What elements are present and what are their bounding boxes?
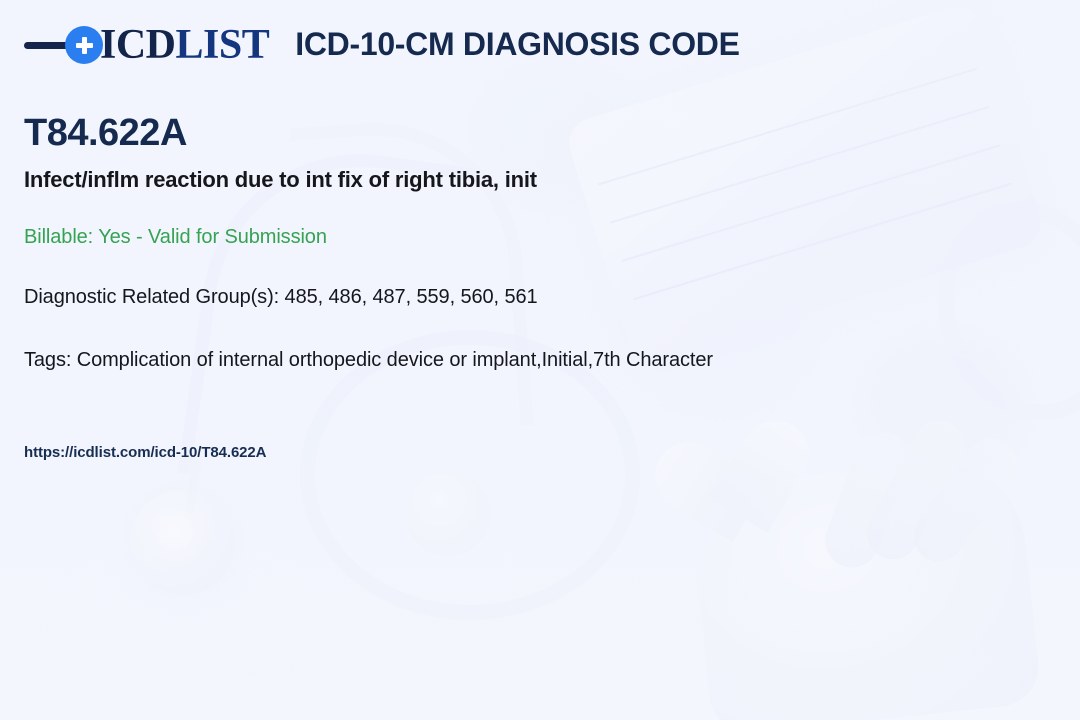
- stethoscope-ring-icon: [300, 330, 640, 620]
- tags-list: Tags: Complication of internal orthopedi…: [24, 348, 713, 372]
- plus-circle-icon: [65, 26, 103, 64]
- hand-finger-icon: [904, 429, 1027, 572]
- icdlist-logo[interactable]: ICDLIST: [24, 24, 269, 66]
- drg-list: Diagnostic Related Group(s): 485, 486, 4…: [24, 285, 538, 309]
- diagnosis-description: Infect/inflm reaction due to int fix of …: [24, 167, 537, 193]
- logo-text-list: LIST: [176, 22, 270, 68]
- heart-shape-icon: [676, 416, 834, 574]
- source-url[interactable]: https://icdlist.com/icd-10/T84.622A: [24, 444, 266, 462]
- stethoscope-bell-icon: [130, 490, 235, 595]
- background-blur-blob: [620, 250, 820, 420]
- hand-palm-icon: [688, 453, 1042, 720]
- background-blur-blob: [60, 560, 320, 700]
- icd-code-card: ICDLIST ICD-10-CM DIAGNOSIS CODE T84.622…: [0, 0, 1080, 720]
- stethoscope-tubing-icon: [289, 113, 533, 441]
- surgical-mask-earloop-icon: [910, 177, 1080, 444]
- stethoscope-stem-icon: [183, 460, 201, 521]
- stethoscope-chestpiece-icon: [405, 470, 491, 556]
- header: ICDLIST ICD-10-CM DIAGNOSIS CODE: [24, 24, 740, 66]
- page-title: ICD-10-CM DIAGNOSIS CODE: [295, 28, 739, 62]
- hand-finger-icon: [858, 412, 974, 569]
- hand-finger-icon: [818, 425, 917, 575]
- billable-status: Billable: Yes - Valid for Submission: [24, 225, 327, 249]
- logo-text-icd: ICD: [100, 22, 176, 68]
- stethoscope-bell-inner-icon: [152, 512, 212, 572]
- background-blur-blob: [860, 330, 1030, 480]
- diagnosis-code: T84.622A: [24, 114, 187, 152]
